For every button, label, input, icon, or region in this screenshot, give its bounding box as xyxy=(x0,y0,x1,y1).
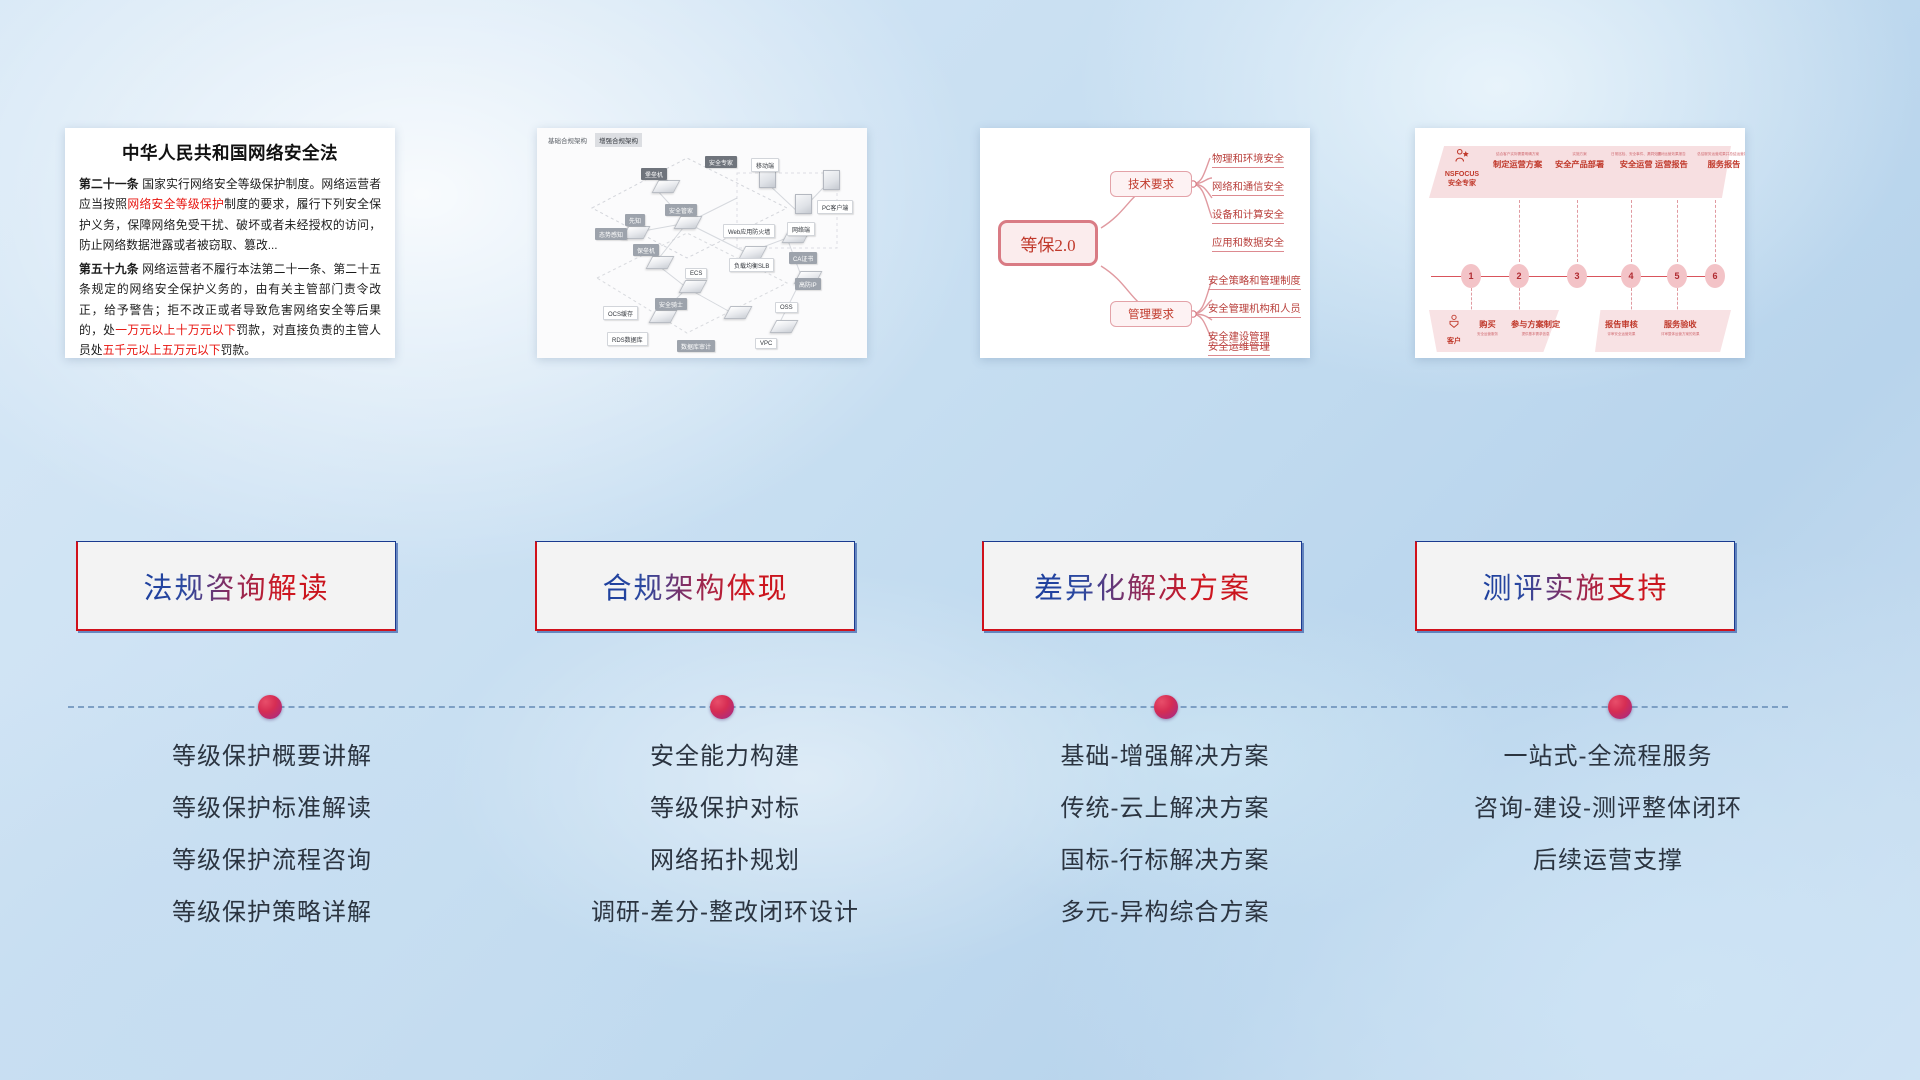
timeline-node-6[interactable]: 6 xyxy=(1705,264,1725,288)
expert-brand-label: NSFOCUS xyxy=(1439,171,1485,180)
timeline-bottom-step-report-review: 报告审核 评审安全运营效果 xyxy=(1605,318,1638,337)
node-label-vpc: VPC xyxy=(755,338,777,349)
mindmap-branch-technical[interactable]: 技术要求 xyxy=(1110,171,1192,197)
timeline-node-4[interactable]: 4 xyxy=(1621,264,1641,288)
mindmap-leaf-org-personnel: 安全管理机构和人员 xyxy=(1208,300,1301,318)
mindmap-leaf-app-data: 应用和数据安全 xyxy=(1212,234,1284,252)
timeline-expert-actor: NSFOCUS 安全专家 xyxy=(1439,148,1485,189)
customer-role-label: 客户 xyxy=(1437,336,1471,346)
feature-lists-row: 等级保护概要讲解 等级保护标准解读 等级保护流程咨询 等级保护策略详解 安全能力… xyxy=(0,745,1920,1045)
title-label-3: 差异化解决方案 xyxy=(1034,565,1251,607)
timeline-connector-6 xyxy=(1715,200,1716,262)
card-mindmap[interactable]: 等保2.0 技术要求 物理和环境安全 网络和通信安全 设备和计算安全 应用和数据… xyxy=(980,128,1310,358)
title-label-1: 法规咨询解读 xyxy=(143,565,329,607)
feature-list-2: 安全能力构建 等级保护对标 网络拓扑规划 调研-差分-整改闭环设计 xyxy=(525,745,925,953)
law-content: 中华人民共和国网络安全法 第二十一条 国家实行网络安全等级保护制度。网络运营者应… xyxy=(65,128,395,358)
expert-role-label: 安全专家 xyxy=(1439,180,1485,189)
list-item: 传统-云上解决方案 xyxy=(965,797,1365,821)
list-item: 等级保护标准解读 xyxy=(72,797,472,821)
node-label-network: 网络端 xyxy=(787,222,815,236)
architecture-links xyxy=(537,128,867,358)
architecture-canvas: 基础合规架构 增强合规架构 xyxy=(537,128,867,358)
title-box-compliance-architecture[interactable]: 合规架构体现 xyxy=(535,541,855,631)
timeline-node-3[interactable]: 3 xyxy=(1567,264,1587,288)
customer-person-icon xyxy=(1446,314,1462,330)
mindmap-root-node[interactable]: 等保2.0 xyxy=(998,220,1098,266)
law-article-59-fine2: 五千元以上五万元以下 xyxy=(103,343,221,357)
feature-list-1: 等级保护概要讲解 等级保护标准解读 等级保护流程咨询 等级保护策略详解 xyxy=(72,745,472,953)
process-timeline xyxy=(0,695,1920,719)
timeline-node-1[interactable]: 1 xyxy=(1461,264,1481,288)
node-label-anquanguanjia: 安全管家 xyxy=(665,204,697,216)
list-item: 等级保护对标 xyxy=(525,797,925,821)
node-label-baoleiji: 堡垒机 xyxy=(641,168,667,180)
node-label-pc: PC客户端 xyxy=(817,200,853,214)
timeline-connector-4 xyxy=(1631,200,1632,262)
list-item: 基础-增强解决方案 xyxy=(965,745,1365,769)
law-article-59-fine1: 一万元以上十万元以下 xyxy=(115,323,236,337)
title-boxes-row: 法规咨询解读 合规架构体现 差异化解决方案 测评实施支持 xyxy=(0,541,1920,633)
law-article-21: 第二十一条 国家实行网络安全等级保护制度。网络运营者应当按照网络安全等级保护制度… xyxy=(79,174,381,255)
timeline-customer-actor: 客户 xyxy=(1437,314,1471,346)
title-label-2: 合规架构体现 xyxy=(602,565,788,607)
node-server-2 xyxy=(795,194,812,214)
title-box-regulation-consulting[interactable]: 法规咨询解读 xyxy=(76,541,396,631)
mindmap-leaf-network-comm: 网络和通信安全 xyxy=(1212,178,1284,196)
law-title: 中华人民共和国网络安全法 xyxy=(79,140,381,165)
timeline-step-4: 日常巡检、安全事件、漏洞处置 安全运营 xyxy=(1611,152,1661,170)
list-item: 一站式-全流程服务 xyxy=(1408,745,1808,769)
timeline-step-3: 实施方案 安全产品部署 xyxy=(1555,152,1604,170)
timeline-step-2: 结合客户实际需要明确方案 制定运营方案 xyxy=(1493,152,1542,170)
mindmap-leaf-ops-mgmt: 安全运维管理 xyxy=(1208,338,1270,356)
feature-list-4: 一站式-全流程服务 咨询-建设-测评整体闭环 后续运营支撑 xyxy=(1408,745,1808,901)
mindmap-leaf-policy-system: 安全策略和管理制度 xyxy=(1208,272,1301,290)
list-item: 网络拓扑规划 xyxy=(525,849,925,873)
title-label-4: 测评实施支持 xyxy=(1482,565,1668,607)
mindmap-leaf-device-compute: 设备和计算安全 xyxy=(1212,206,1284,224)
list-item: 国标-行标解决方案 xyxy=(965,849,1365,873)
timeline-canvas: NSFOCUS 安全专家 结合客户实际需要明确方案 制定运营方案 实施方案 安全… xyxy=(1415,128,1745,358)
timeline-connector-5 xyxy=(1677,200,1678,262)
mindmap-canvas: 等保2.0 技术要求 物理和环境安全 网络和通信安全 设备和计算安全 应用和数据… xyxy=(980,128,1310,358)
node-server-3 xyxy=(823,170,840,190)
list-item: 等级保护概要讲解 xyxy=(72,745,472,769)
node-label-oss: OSS xyxy=(775,302,798,313)
node-label-taishiganzhi: 态势感知 xyxy=(595,228,627,240)
node-label-mobile: 移动端 xyxy=(751,158,779,172)
node-label-baoleiji2: 保垒机 xyxy=(633,244,659,256)
node-label-security-expert: 安全专家 xyxy=(705,156,737,168)
card-law-document[interactable]: 中华人民共和国网络安全法 第二十一条 国家实行网络安全等级保护制度。网络运营者应… xyxy=(65,128,395,358)
card-service-timeline[interactable]: NSFOCUS 安全专家 结合客户实际需要明确方案 制定运营方案 实施方案 安全… xyxy=(1415,128,1745,358)
law-article-59: 第五十九条 网络运营者不履行本法第二十一条、第二十五条规定的网络安全保护义务的，… xyxy=(79,259,381,358)
timeline-step-6: 总结服务运营成果并总结运营效果 服务报告 xyxy=(1697,152,1745,170)
node-label-xianzhi: 先知 xyxy=(625,214,645,226)
node-label-waf: Web应用防火墙 xyxy=(723,224,775,238)
timeline-connector-2 xyxy=(1519,200,1520,262)
list-item: 后续运营支撑 xyxy=(1408,849,1808,873)
timeline-step-5: 针对运营效果报告 运营报告 xyxy=(1655,152,1688,170)
list-item: 多元-异构综合方案 xyxy=(965,901,1365,925)
list-item: 调研-差分-整改闭环设计 xyxy=(525,901,925,925)
expert-person-icon xyxy=(1453,148,1471,166)
timeline-bottom-step-participate: 参与方案制定 提供基本需求信息 xyxy=(1511,318,1560,337)
timeline-dashed-line xyxy=(68,706,1788,708)
timeline-node-5[interactable]: 5 xyxy=(1667,264,1687,288)
law-article-59-part3: 罚款。 xyxy=(221,343,256,357)
node-label-anti-ddos: 高防IP xyxy=(795,278,821,290)
timeline-bottom-step-purchase: 购买 安全运营服务 xyxy=(1477,318,1498,337)
node-label-ca-cert: CA证书 xyxy=(789,252,817,264)
timeline-connector-3 xyxy=(1577,200,1578,262)
law-article-59-label: 第五十九条 xyxy=(79,262,139,276)
node-label-rds: RDS数据库 xyxy=(607,332,648,346)
timeline-marker-3[interactable] xyxy=(1154,695,1178,719)
timeline-node-2[interactable]: 2 xyxy=(1509,264,1529,288)
feature-list-3: 基础-增强解决方案 传统-云上解决方案 国标-行标解决方案 多元-异构综合方案 xyxy=(965,745,1365,953)
node-label-db-audit: 数据库审计 xyxy=(677,340,715,352)
mindmap-branch-management[interactable]: 管理要求 xyxy=(1110,301,1192,327)
list-item: 咨询-建设-测评整体闭环 xyxy=(1408,797,1808,821)
mindmap-leaf-physical-env: 物理和环境安全 xyxy=(1212,150,1284,168)
title-box-evaluation-support[interactable]: 测评实施支持 xyxy=(1415,541,1735,631)
timeline-bottom-step-acceptance: 服务验收 评审整体运营方案的效果 xyxy=(1661,318,1700,337)
list-item: 等级保护策略详解 xyxy=(72,901,472,925)
law-article-21-highlight: 网络安全等级保护 xyxy=(127,197,224,211)
title-box-differentiated-solution[interactable]: 差异化解决方案 xyxy=(982,541,1302,631)
node-label-ecs: ECS xyxy=(685,268,707,279)
law-article-21-label: 第二十一条 xyxy=(79,177,139,191)
card-architecture-diagram[interactable]: 基础合规架构 增强合规架构 xyxy=(537,128,867,358)
cards-row: 中华人民共和国网络安全法 第二十一条 国家实行网络安全等级保护制度。网络运营者应… xyxy=(0,128,1920,363)
node-label-anquanqishi: 安全骑士 xyxy=(655,298,687,310)
timeline-marker-2[interactable] xyxy=(710,695,734,719)
node-label-ocs-cache: OCS缓存 xyxy=(603,306,638,320)
list-item: 等级保护流程咨询 xyxy=(72,849,472,873)
timeline-marker-1[interactable] xyxy=(258,695,282,719)
list-item: 安全能力构建 xyxy=(525,745,925,769)
timeline-marker-4[interactable] xyxy=(1608,695,1632,719)
node-label-slb: 负载均衡SLB xyxy=(729,258,774,272)
